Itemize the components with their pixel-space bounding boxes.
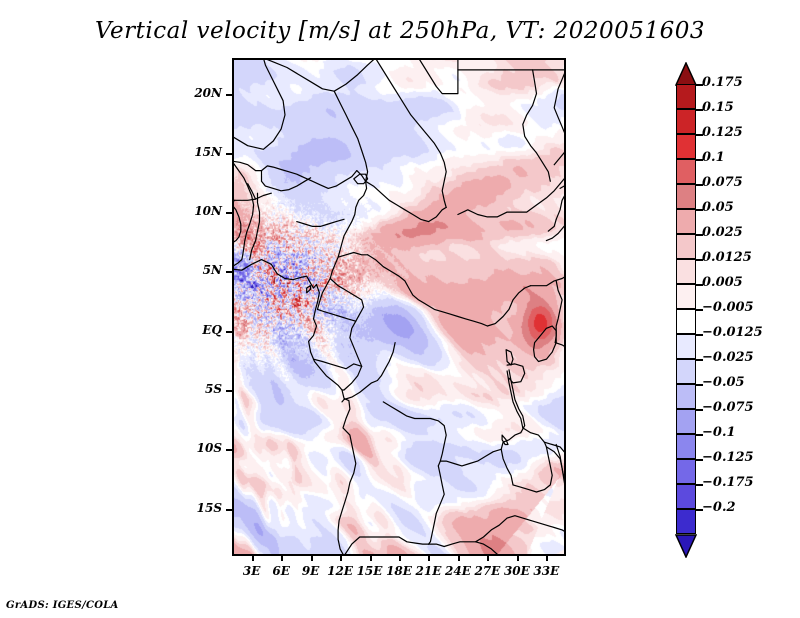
colorbar-segment	[676, 84, 696, 109]
y-axis-label: 15N	[170, 145, 222, 159]
vertical-velocity-field	[232, 58, 566, 556]
colorbar-label: 0.125	[702, 125, 743, 140]
colorbar-segment	[676, 509, 696, 534]
y-axis-tick	[226, 271, 232, 273]
colorbar-label: −0.075	[702, 400, 754, 415]
x-axis-tick	[458, 556, 460, 561]
colorbar-segment	[676, 334, 696, 359]
colorbar-label: 0.15	[702, 100, 734, 115]
x-axis-tick	[399, 556, 401, 561]
x-axis-tick	[428, 556, 430, 561]
y-axis-tick	[226, 331, 232, 333]
colorbar-label: 0.075	[702, 175, 743, 190]
colorbar-label: 0.1	[702, 150, 725, 165]
x-axis-tick	[281, 556, 283, 561]
x-axis-label: 33E	[524, 564, 568, 578]
colorbar-segment	[676, 384, 696, 409]
colorbar-label: −0.2	[702, 500, 736, 515]
colorbar-segment	[676, 434, 696, 459]
colorbar-top-arrow	[675, 62, 697, 86]
x-axis-tick	[370, 556, 372, 561]
colorbar-label: 0.175	[702, 75, 743, 90]
colorbar-label: −0.175	[702, 475, 754, 490]
colorbar-segment	[676, 284, 696, 309]
colorbar-segment	[676, 184, 696, 209]
colorbar-label: 0.0125	[702, 250, 752, 265]
colorbar-label: 0.005	[702, 275, 743, 290]
colorbar-label: 0.05	[702, 200, 734, 215]
colorbar-segment	[676, 109, 696, 134]
colorbar-segment	[676, 484, 696, 509]
colorbar-segment	[676, 159, 696, 184]
colorbar-bottom-arrow	[675, 534, 697, 558]
y-axis-tick	[226, 153, 232, 155]
x-axis-tick	[252, 556, 254, 561]
map-plot-area	[232, 58, 566, 556]
colorbar-segment	[676, 459, 696, 484]
y-axis-label: 10S	[170, 441, 222, 455]
colorbar-label: −0.125	[702, 450, 754, 465]
y-axis-label: 10N	[170, 204, 222, 218]
y-axis-label: 5S	[170, 382, 222, 396]
colorbar-label: 0.025	[702, 225, 743, 240]
colorbar-label: −0.025	[702, 350, 754, 365]
colorbar-segment	[676, 409, 696, 434]
x-axis-tick	[517, 556, 519, 561]
y-axis-label: 5N	[170, 263, 222, 277]
colorbar-segment	[676, 259, 696, 284]
colorbar-label: −0.005	[702, 300, 754, 315]
x-axis-tick	[340, 556, 342, 561]
page-title: Vertical velocity [m/s] at 250hPa, VT: 2…	[0, 18, 800, 44]
colorbar-segment	[676, 209, 696, 234]
colorbar-label: −0.05	[702, 375, 745, 390]
x-axis-tick	[311, 556, 313, 561]
x-axis-tick	[487, 556, 489, 561]
colorbar-segment	[676, 359, 696, 384]
y-axis-label: 15S	[170, 501, 222, 515]
y-axis-label: 20N	[170, 86, 222, 100]
colorbar-segment	[676, 234, 696, 259]
footer-credit: GrADS: IGES/COLA	[6, 600, 119, 611]
x-axis-tick	[546, 556, 548, 561]
y-axis-tick	[226, 212, 232, 214]
y-axis-label: EQ	[170, 323, 222, 337]
y-axis-tick	[226, 390, 232, 392]
y-axis-tick	[226, 509, 232, 511]
colorbar-label: −0.1	[702, 425, 736, 440]
colorbar-segment	[676, 134, 696, 159]
colorbar-segment	[676, 309, 696, 334]
colorbar-label: −0.0125	[702, 325, 763, 340]
y-axis-tick	[226, 94, 232, 96]
y-axis-tick	[226, 449, 232, 451]
